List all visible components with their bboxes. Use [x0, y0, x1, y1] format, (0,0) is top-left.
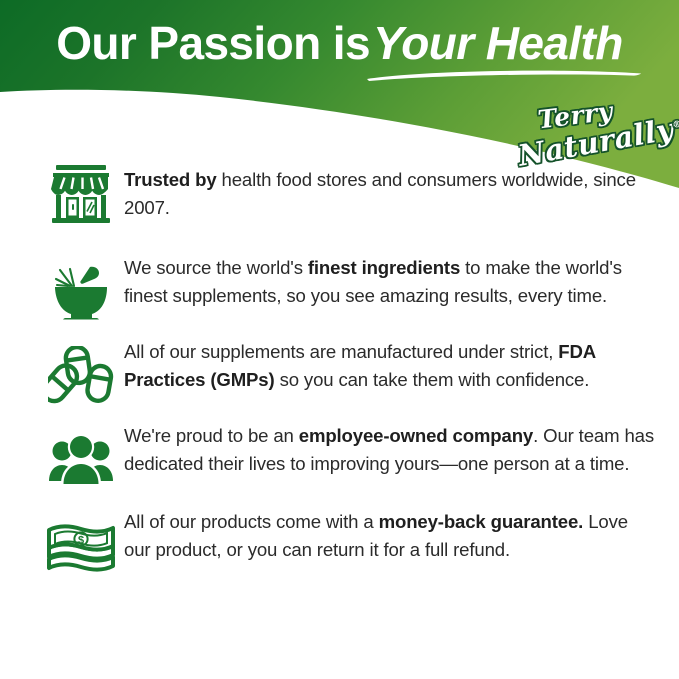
benefit-text: We're proud to be an employee-owned comp…: [124, 422, 655, 478]
headline-accent: Your Health: [373, 17, 623, 69]
benefit-row: $ All of our products come with a money-…: [0, 508, 679, 582]
storefront-icon: [38, 158, 124, 232]
benefit-text: All of our supplements are manufactured …: [124, 338, 655, 394]
mortar-and-pestle-icon: [38, 254, 124, 328]
benefit-row: We source the world's finest ingredients…: [0, 254, 679, 328]
page-title: Our Passion isYour Health: [0, 15, 679, 71]
money-banknotes-icon: $: [38, 508, 124, 582]
benefit-lead: Trusted by: [124, 169, 217, 190]
benefit-pre: All of our supplements are manufactured …: [124, 341, 558, 362]
benefit-lead: employee-owned company: [299, 425, 533, 446]
benefit-row: We're proud to be an employee-owned comp…: [0, 422, 679, 496]
benefit-lead: finest ingredients: [308, 257, 460, 278]
benefit-pre: We're proud to be an: [124, 425, 299, 446]
benefit-row: Trusted by health food stores and consum…: [0, 158, 679, 232]
benefit-text: All of our products come with a money-ba…: [124, 508, 655, 564]
benefit-pre: We source the world's: [124, 257, 308, 278]
swoosh-underline-icon: [366, 68, 642, 84]
headline-plain: Our Passion is: [56, 17, 370, 69]
benefit-row: All of our supplements are manufactured …: [0, 338, 679, 412]
registered-mark-icon: ®: [672, 119, 679, 130]
benefit-text: Trusted by health food stores and consum…: [124, 158, 655, 222]
benefit-list: Trusted by health food stores and consum…: [0, 158, 679, 598]
promo-graphic: Our Passion isYour Health Terry Naturall…: [0, 0, 679, 679]
benefit-pre: All of our products come with a: [124, 511, 379, 532]
group-of-people-icon: [38, 422, 124, 496]
benefit-lead: money-back guarantee.: [379, 511, 584, 532]
svg-text:$: $: [78, 534, 84, 546]
benefit-text: We source the world's finest ingredients…: [124, 254, 655, 310]
benefit-rest: so you can take them with confidence.: [275, 369, 590, 390]
capsules-icon: [38, 338, 124, 412]
